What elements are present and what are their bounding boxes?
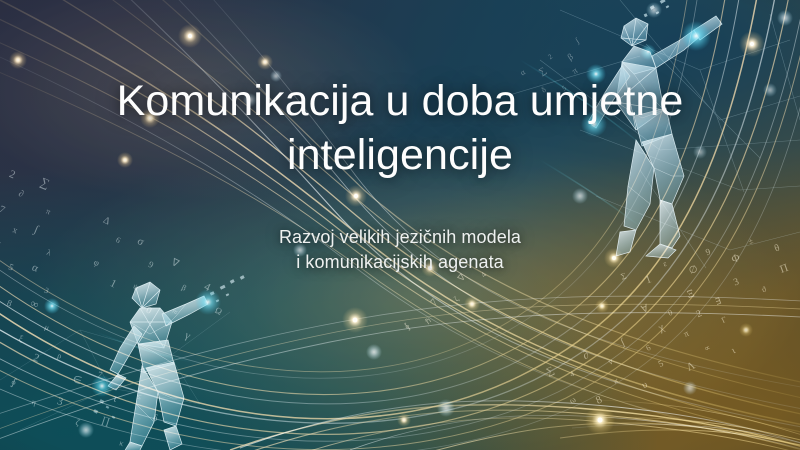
slide-subtitle: Razvoj velikih jezičnih modela i komunik… bbox=[140, 182, 660, 275]
slide-text-block: Komunikacija u doba umjetne inteligencij… bbox=[0, 0, 800, 450]
title-slide: 2 ∂ ∑ π 7 x ∫ λ √ 5 α 3 θ 8 ∞ μ Δ 6 σ bbox=[0, 0, 800, 450]
slide-title: Komunikacija u doba umjetne inteligencij… bbox=[90, 0, 710, 182]
